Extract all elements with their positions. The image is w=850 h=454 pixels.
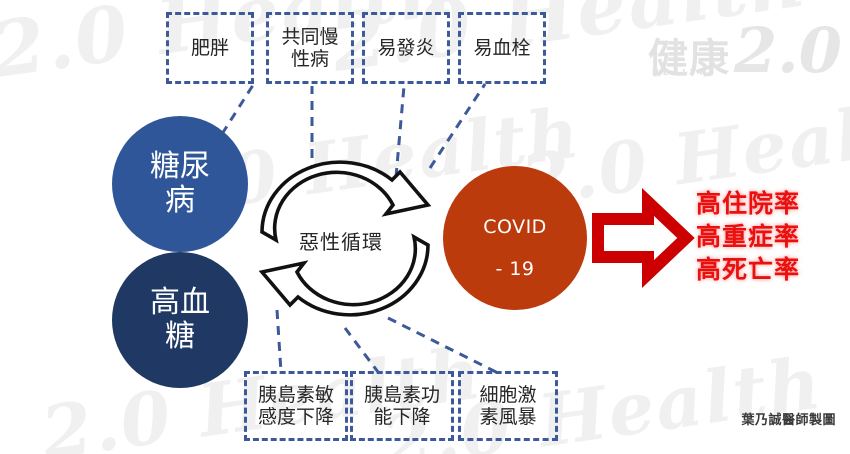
box-cytokine-storm-label: 細胞激 素風暴 — [479, 384, 536, 429]
box-chronic-disease[interactable]: 共同慢 性病 — [266, 12, 354, 84]
box-obesity[interactable]: 肥胖 — [166, 12, 254, 84]
box-inflammation-label: 易發炎 — [377, 37, 434, 59]
box-thrombosis[interactable]: 易血栓 — [458, 12, 546, 84]
box-insulin-function-label: 胰島素功 能下降 — [364, 384, 440, 429]
box-thrombosis-label: 易血栓 — [473, 37, 530, 59]
outcome-hospitalization: 高住院率 — [696, 187, 800, 220]
circle-diabetes-label: 糖尿 病 — [150, 150, 210, 217]
brand-logo-cn: 健康 — [648, 26, 730, 84]
box-insulin-function[interactable]: 胰島素功 能下降 — [350, 371, 454, 441]
connector-diabetes-to-obesity — [222, 82, 255, 134]
outcome-severe-illness: 高重症率 — [696, 220, 800, 253]
connector-to-insulin-sensitivity — [277, 310, 281, 372]
outcome-mortality: 高死亡率 — [696, 253, 800, 286]
connector-to-thrombosis — [430, 84, 485, 168]
box-cytokine-storm[interactable]: 細胞激 素風暴 — [458, 371, 558, 441]
brand-logo: 健康 2.0 HEALTH — [642, 12, 842, 88]
box-insulin-sensitivity[interactable]: 胰島素敏 感度下降 — [244, 371, 348, 441]
circle-hyperglycemia[interactable]: 高血 糖 — [112, 252, 248, 388]
box-inflammation[interactable]: 易發炎 — [362, 12, 450, 84]
connector-to-insulin-function — [345, 328, 378, 372]
credit-text: 葉乃誠醫師製圖 — [741, 409, 836, 428]
brand-logo-subtitle: HEALTH — [652, 68, 710, 77]
circle-covid-label: COVID - 19 — [483, 195, 547, 280]
circle-covid[interactable]: COVID - 19 — [443, 166, 587, 310]
box-obesity-label: 肥胖 — [191, 37, 229, 59]
connector-to-cytokine-storm — [388, 318, 500, 374]
connector-to-inflammation — [396, 86, 404, 177]
circle-covid-line1: COVID — [483, 216, 547, 238]
circle-hyperglycemia-label: 高血 糖 — [150, 286, 210, 353]
vicious-cycle-label: 惡性循環 — [299, 226, 383, 255]
box-insulin-sensitivity-label: 胰島素敏 感度下降 — [258, 384, 334, 429]
infographic-canvas: 2.0 Health 2.0 Health 2.0 Health 2.0 Hea… — [0, 0, 850, 454]
circle-diabetes[interactable]: 糖尿 病 — [112, 116, 248, 252]
brand-logo-number: 2.0 — [734, 14, 842, 87]
outcome-list: 高住院率 高重症率 高死亡率 — [696, 187, 800, 286]
circle-covid-line2: - 19 — [495, 258, 534, 280]
box-chronic-disease-label: 共同慢 性病 — [281, 26, 338, 71]
result-arrow-icon — [598, 202, 686, 274]
